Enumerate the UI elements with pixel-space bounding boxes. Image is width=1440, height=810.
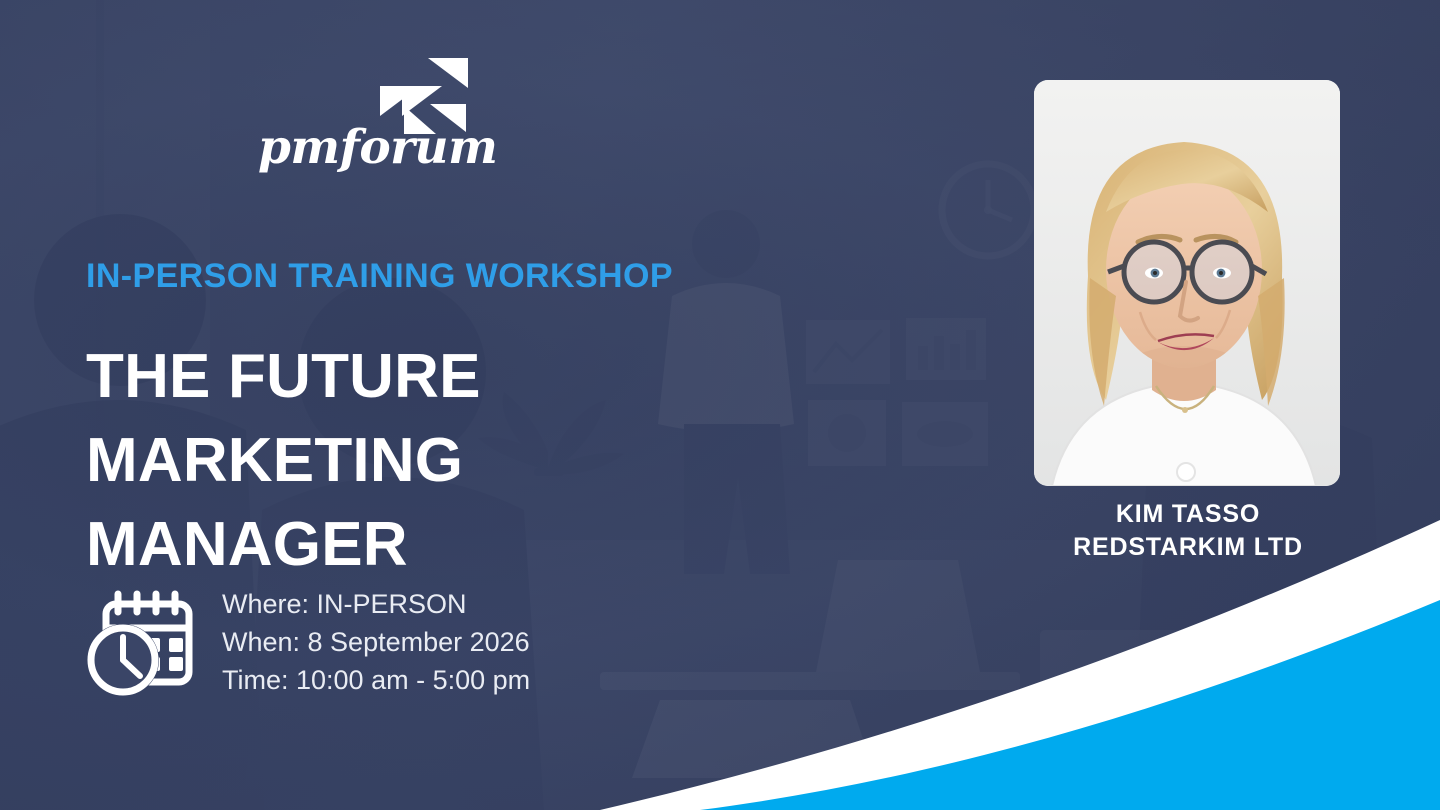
- event-details: Where: IN-PERSON When: 8 September 2026 …: [82, 585, 530, 699]
- logo-wordmark: pmforum: [258, 120, 497, 175]
- speaker-photo: [1034, 80, 1340, 486]
- detail-where: Where: IN-PERSON: [222, 585, 530, 623]
- event-promo-banner: pmforum IN-PERSON TRAINING WORKSHOP THE …: [0, 0, 1440, 810]
- speaker-name: KIM TASSO: [1010, 498, 1366, 531]
- eyebrow-label: IN-PERSON TRAINING WORKSHOP: [86, 257, 673, 296]
- speaker-credit: KIM TASSO REDSTARKIM LTD: [1010, 498, 1366, 564]
- title-line-1: THE FUTURE MARKETING: [86, 335, 846, 503]
- title-line-2: MANAGER: [86, 503, 846, 587]
- event-detail-lines: Where: IN-PERSON When: 8 September 2026 …: [222, 585, 530, 699]
- detail-time: Time: 10:00 am - 5:00 pm: [222, 661, 530, 699]
- detail-when: When: 8 September 2026: [222, 623, 530, 661]
- calendar-clock-icon: [82, 588, 194, 696]
- portrait-illustration: [1034, 80, 1340, 486]
- page-title: THE FUTURE MARKETING MANAGER: [86, 335, 846, 587]
- pmforum-logo: pmforum: [258, 58, 468, 178]
- speaker-company: REDSTARKIM LTD: [1010, 531, 1366, 564]
